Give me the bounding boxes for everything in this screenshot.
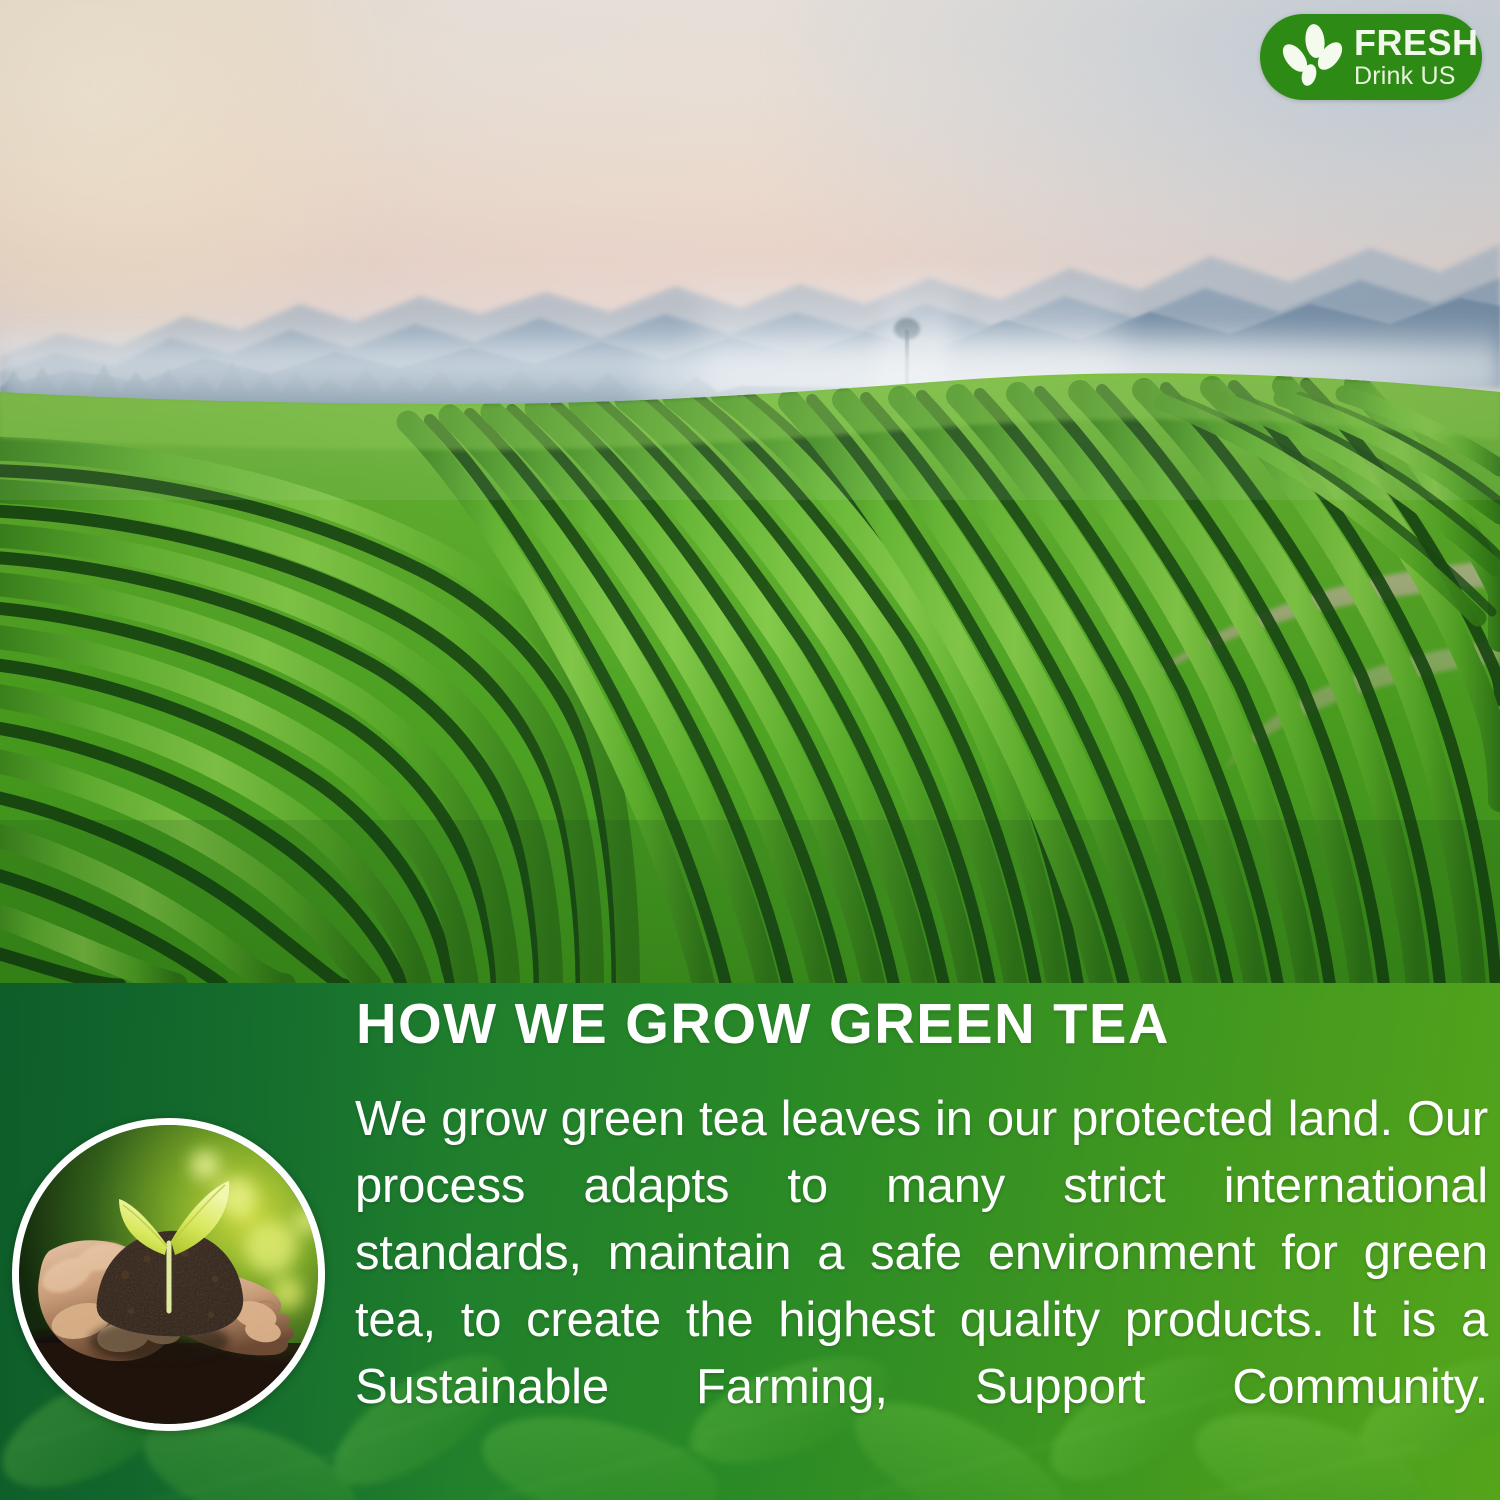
poster: FRESH Drink US <box>0 0 1500 1500</box>
logo-line-2: Drink US <box>1354 64 1479 89</box>
body-paragraph: We grow green tea leaves in our protecte… <box>355 1086 1488 1488</box>
tea-field <box>0 0 1500 983</box>
hero-photo <box>0 0 1500 983</box>
page-title: HOW WE GROW GREEN TEA <box>356 996 1471 1053</box>
seedling-photo <box>12 1118 325 1431</box>
leaf-cluster-icon <box>1276 20 1350 94</box>
logo-line-1: FRESH <box>1354 25 1479 61</box>
brand-logo[interactable]: FRESH Drink US <box>1260 14 1482 100</box>
